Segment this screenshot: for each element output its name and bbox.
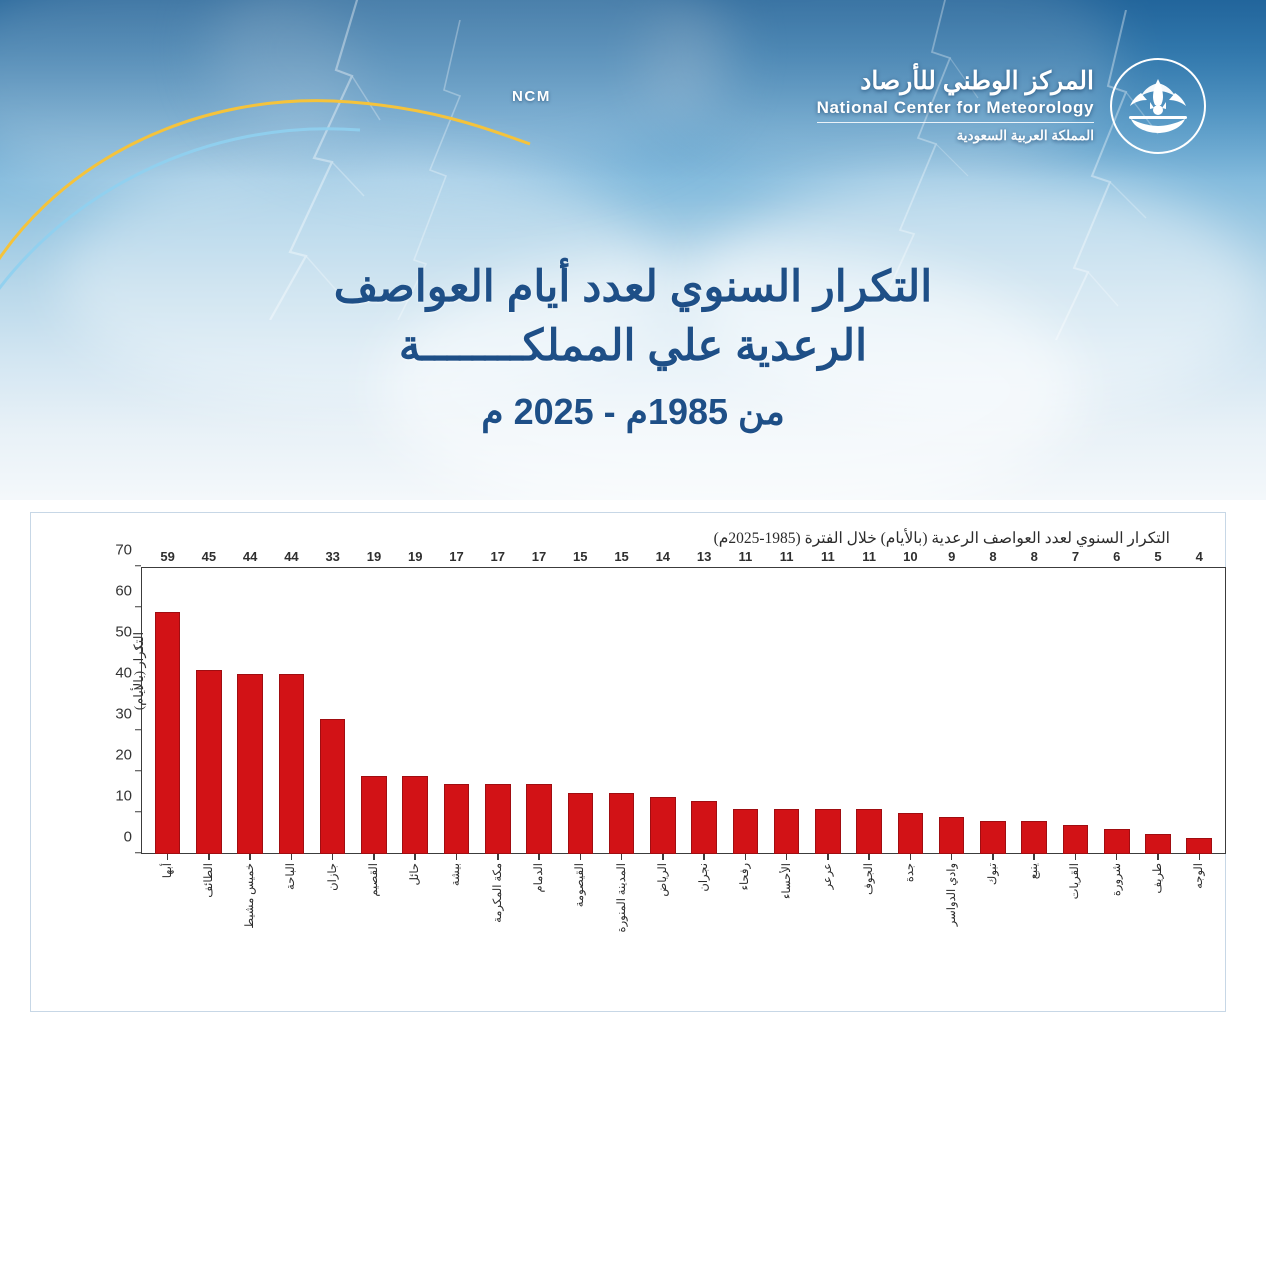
bar-item[interactable]: 19 xyxy=(353,567,394,854)
x-axis-labels: أبهاالطائفخميس مشيطالباحةجازانالقصيمحائل… xyxy=(141,863,1226,988)
bar-value-label: 17 xyxy=(477,549,518,564)
x-axis-tickmark xyxy=(373,854,375,860)
brand-lockup: المركز الوطني للأرصاد National Center fo… xyxy=(817,58,1206,154)
bar-item[interactable]: 10 xyxy=(890,567,931,854)
bar: 9 xyxy=(939,817,965,854)
y-axis-tick-label: 40 xyxy=(115,665,132,682)
bar: 11 xyxy=(733,809,759,854)
x-axis-tickmark xyxy=(951,854,953,860)
x-axis-tickmark xyxy=(621,854,623,860)
x-axis-tickmark xyxy=(291,854,293,860)
bar-value-label: 19 xyxy=(395,549,436,564)
bar-value-label: 6 xyxy=(1096,549,1137,564)
bar: 44 xyxy=(237,674,263,854)
bar: 15 xyxy=(568,793,594,855)
page-subtitle: من 1985م - 2025 م xyxy=(0,391,1266,433)
x-axis-label-cell: نجران xyxy=(683,863,724,988)
bar-value-label: 44 xyxy=(230,549,271,564)
x-axis-label-cell: تبوك xyxy=(972,863,1013,988)
bar: 59 xyxy=(155,612,181,854)
x-axis-label-cell: أبها xyxy=(147,863,188,988)
y-axis-tick-label: 50 xyxy=(115,624,132,641)
bar-value-label: 11 xyxy=(725,549,766,564)
page-title-line1: التكرار السنوي لعدد أيام العواصف xyxy=(0,258,1266,317)
bar: 4 xyxy=(1186,838,1212,854)
x-axis-tickmark xyxy=(662,854,664,860)
x-axis-label-cell: القصيم xyxy=(353,863,394,988)
page-title-block: التكرار السنوي لعدد أيام العواصف الرعدية… xyxy=(0,258,1266,433)
brand-name-english: National Center for Meteorology xyxy=(817,97,1094,123)
x-axis-label: أبها xyxy=(162,863,174,878)
bar-item[interactable]: 17 xyxy=(518,567,559,854)
x-axis-label-cell: ينبع xyxy=(1014,863,1055,988)
bar-item[interactable]: 8 xyxy=(972,567,1013,854)
bar: 10 xyxy=(898,813,924,854)
bar-value-label: 14 xyxy=(642,549,683,564)
bar-item[interactable]: 11 xyxy=(849,567,890,854)
x-axis-label-cell: الدمام xyxy=(518,863,559,988)
bar-item[interactable]: 33 xyxy=(312,567,353,854)
chart-plot-area: التكرار (بالأيام) 706050403020100 594544… xyxy=(141,567,1226,854)
x-axis-label: الوجه xyxy=(1193,863,1205,889)
bar: 8 xyxy=(980,821,1006,854)
bar: 15 xyxy=(609,793,635,855)
x-axis-label-cell: مكة المكرمة xyxy=(477,863,518,988)
bar-item[interactable]: 17 xyxy=(477,567,518,854)
x-axis-tickmark xyxy=(1116,854,1118,860)
bar-value-label: 45 xyxy=(188,549,229,564)
bar: 45 xyxy=(196,670,222,855)
x-axis-label: الدمام xyxy=(533,863,545,893)
x-axis-label: طريف xyxy=(1152,863,1164,894)
bar-item[interactable]: 19 xyxy=(395,567,436,854)
x-axis-tickmark xyxy=(414,854,416,860)
x-axis-label: المدينة المنورة xyxy=(616,863,628,932)
x-axis-label-cell: الجوف xyxy=(849,863,890,988)
x-axis-label: نجران xyxy=(698,863,710,892)
x-axis-tickmark xyxy=(827,854,829,860)
bar-value-label: 44 xyxy=(271,549,312,564)
bar-item[interactable]: 15 xyxy=(560,567,601,854)
bar-value-label: 11 xyxy=(807,549,848,564)
x-axis-tickmark xyxy=(868,854,870,860)
x-axis-label-cell: وادي الدواسر xyxy=(931,863,972,988)
x-axis-label-cell: القريات xyxy=(1055,863,1096,988)
x-axis-tickmark xyxy=(208,854,210,860)
x-axis-label-cell: الباحة xyxy=(271,863,312,988)
x-axis-tickmark xyxy=(1075,854,1077,860)
bar: 8 xyxy=(1021,821,1047,854)
x-axis-label: بيشة xyxy=(450,863,462,886)
bar-value-label: 8 xyxy=(1014,549,1055,564)
bar-value-label: 4 xyxy=(1179,549,1220,564)
x-axis-tickmark xyxy=(745,854,747,860)
x-axis-label: جدة xyxy=(904,863,916,882)
x-axis-label: تبوك xyxy=(987,863,999,885)
y-axis-tick-label: 10 xyxy=(115,788,132,805)
bar: 11 xyxy=(774,809,800,854)
brand-name-arabic: المركز الوطني للأرصاد xyxy=(817,67,1094,96)
x-axis-label-cell: الأحساء xyxy=(766,863,807,988)
x-axis-label: رفحاء xyxy=(739,863,751,890)
x-axis-label: الجوف xyxy=(863,863,875,895)
y-axis-tick-label: 0 xyxy=(124,829,132,846)
x-axis-label-cell: طريف xyxy=(1137,863,1178,988)
bar: 17 xyxy=(444,784,470,854)
bar: 17 xyxy=(485,784,511,854)
x-axis-label: القصيم xyxy=(368,863,380,897)
bar-item[interactable]: 7 xyxy=(1055,567,1096,854)
x-axis-tickmark xyxy=(1199,854,1201,860)
x-axis-tickmark xyxy=(1033,854,1035,860)
chart-card: التكرار السنوي لعدد العواصف الرعدية (بال… xyxy=(30,512,1226,1012)
bar-value-label: 13 xyxy=(683,549,724,564)
bar-value-label: 10 xyxy=(890,549,931,564)
x-axis-tickmark xyxy=(456,854,458,860)
bar-item[interactable]: 44 xyxy=(230,567,271,854)
bar: 19 xyxy=(361,776,387,854)
x-axis-tickmark xyxy=(580,854,582,860)
x-axis-tickmark xyxy=(703,854,705,860)
bar-item[interactable]: 14 xyxy=(642,567,683,854)
x-axis-tickmark xyxy=(786,854,788,860)
x-axis-label-cell: الوجه xyxy=(1179,863,1220,988)
infographic-page: NCM المركز الوطني للأرصاد National Cente… xyxy=(0,0,1266,1266)
bar-item[interactable]: 11 xyxy=(725,567,766,854)
bar-value-label: 11 xyxy=(849,549,890,564)
x-axis-label-cell: المدينة المنورة xyxy=(601,863,642,988)
x-axis-tickmark xyxy=(1157,854,1159,860)
bar-item[interactable]: 17 xyxy=(436,567,477,854)
page-title-line2: الرعدية علي المملكــــــــة xyxy=(0,317,1266,376)
x-axis-label: الأحساء xyxy=(781,863,793,899)
x-axis-tickmark xyxy=(249,854,251,860)
bar-item[interactable]: 44 xyxy=(271,567,312,854)
x-axis-label: شرورة xyxy=(1111,863,1123,896)
bar-item[interactable]: 13 xyxy=(683,567,724,854)
bar-item[interactable]: 4 xyxy=(1179,567,1220,854)
x-axis-label: ينبع xyxy=(1028,863,1040,879)
bar-item[interactable]: 11 xyxy=(807,567,848,854)
x-axis-label-cell: الرياض xyxy=(642,863,683,988)
bar-value-label: 11 xyxy=(766,549,807,564)
x-axis-label: مكة المكرمة xyxy=(492,863,504,923)
x-axis-label: خميس مشيط xyxy=(244,863,256,929)
y-axis-tick-label: 70 xyxy=(115,542,132,559)
x-axis-label-cell: القيصومة xyxy=(560,863,601,988)
x-axis-label: القيصومة xyxy=(574,863,586,907)
y-axis-tick-label: 20 xyxy=(115,747,132,764)
bar-value-label: 15 xyxy=(560,549,601,564)
bar: 5 xyxy=(1145,834,1171,855)
x-axis-label-cell: جدة xyxy=(890,863,931,988)
x-axis-label-cell: بيشة xyxy=(436,863,477,988)
chart-title: التكرار السنوي لعدد العواصف الرعدية (بال… xyxy=(714,529,1170,548)
x-axis-label-cell: جازان xyxy=(312,863,353,988)
bar: 11 xyxy=(815,809,841,854)
x-axis-tickmark xyxy=(332,854,334,860)
bar-value-label: 8 xyxy=(972,549,1013,564)
bar: 14 xyxy=(650,797,676,854)
bar: 7 xyxy=(1063,825,1089,854)
bar-item[interactable]: 59 xyxy=(147,567,188,854)
bar-series: 5945444433191917171715151413111111111098… xyxy=(141,567,1226,854)
bar-item[interactable]: 6 xyxy=(1096,567,1137,854)
x-axis-label: الرياض xyxy=(657,863,669,897)
x-axis-label-cell: الطائف xyxy=(188,863,229,988)
footer: أقلام الخبر ncm.gov.sa ncmksa xyxy=(0,1100,1266,1266)
bar-item[interactable]: 9 xyxy=(931,567,972,854)
y-axis-tick-label: 30 xyxy=(115,706,132,723)
bar-item[interactable]: 11 xyxy=(766,567,807,854)
bar-item[interactable]: 8 xyxy=(1014,567,1055,854)
bar-item[interactable]: 45 xyxy=(188,567,229,854)
x-axis-tickmark xyxy=(497,854,499,860)
y-axis-tick-label: 60 xyxy=(115,583,132,600)
brand-country: المملكة العربية السعودية xyxy=(817,128,1094,144)
x-axis-tickmark xyxy=(538,854,540,860)
x-axis-tickmark xyxy=(910,854,912,860)
x-axis-label: الطائف xyxy=(203,863,215,898)
bar: 33 xyxy=(320,719,346,854)
x-axis-label: حائل xyxy=(409,863,421,886)
x-axis-label-cell: خميس مشيط xyxy=(230,863,271,988)
bar-value-label: 17 xyxy=(436,549,477,564)
x-axis-label-cell: عرعر xyxy=(807,863,848,988)
x-axis-label: جازان xyxy=(327,863,339,891)
ncm-wordmark: NCM xyxy=(512,88,551,105)
bar: 19 xyxy=(402,776,428,854)
x-axis-label: وادي الدواسر xyxy=(946,863,958,926)
bar-value-label: 7 xyxy=(1055,549,1096,564)
x-axis-label: الباحة xyxy=(285,863,297,890)
x-axis-label: عرعر xyxy=(822,863,834,889)
x-axis-tickmark xyxy=(167,854,169,860)
bar-value-label: 17 xyxy=(518,549,559,564)
bar: 13 xyxy=(691,801,717,854)
x-axis-tickmark xyxy=(992,854,994,860)
brand-text-block: المركز الوطني للأرصاد National Center fo… xyxy=(817,67,1094,144)
saudi-palm-swords-emblem-icon xyxy=(1110,58,1206,154)
bar: 11 xyxy=(856,809,882,854)
bar-value-label: 33 xyxy=(312,549,353,564)
x-axis-label-cell: حائل xyxy=(395,863,436,988)
x-axis-label-cell: رفحاء xyxy=(725,863,766,988)
bar-item[interactable]: 5 xyxy=(1137,567,1178,854)
bar-item[interactable]: 15 xyxy=(601,567,642,854)
x-axis-label-cell: شرورة xyxy=(1096,863,1137,988)
bar-value-label: 5 xyxy=(1137,549,1178,564)
bar: 44 xyxy=(279,674,305,854)
bar-value-label: 59 xyxy=(147,549,188,564)
bar: 17 xyxy=(526,784,552,854)
bar: 6 xyxy=(1104,829,1130,854)
bar-value-label: 15 xyxy=(601,549,642,564)
x-axis-label: القريات xyxy=(1069,863,1081,899)
bar-value-label: 9 xyxy=(931,549,972,564)
bar-value-label: 19 xyxy=(353,549,394,564)
